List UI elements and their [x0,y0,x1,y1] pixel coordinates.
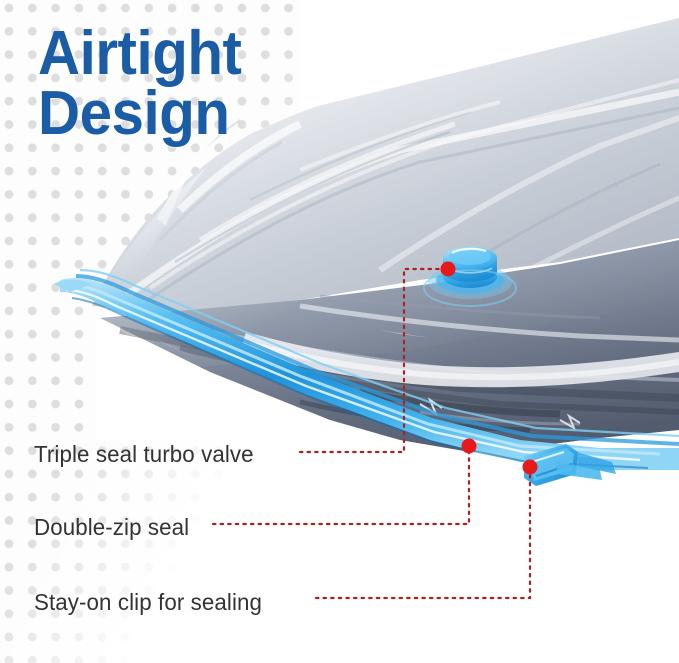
endpoint-dot-zip [462,439,477,454]
callout-label-double-zip-seal: Double-zip seal [34,514,189,541]
callout-connectors [0,0,679,663]
infographic-canvas: AirtightDesign Triple seal turbo valve D… [0,0,679,663]
connector-line-valve [300,269,441,452]
endpoint-dot-valve [441,262,456,277]
callout-label-triple-seal-turbo-valve: Triple seal turbo valve [34,441,254,468]
connector-line-clip [316,474,530,598]
callout-label-stay-on-clip-for-sealing: Stay-on clip for sealing [34,589,262,616]
endpoint-dot-clip [523,460,538,475]
